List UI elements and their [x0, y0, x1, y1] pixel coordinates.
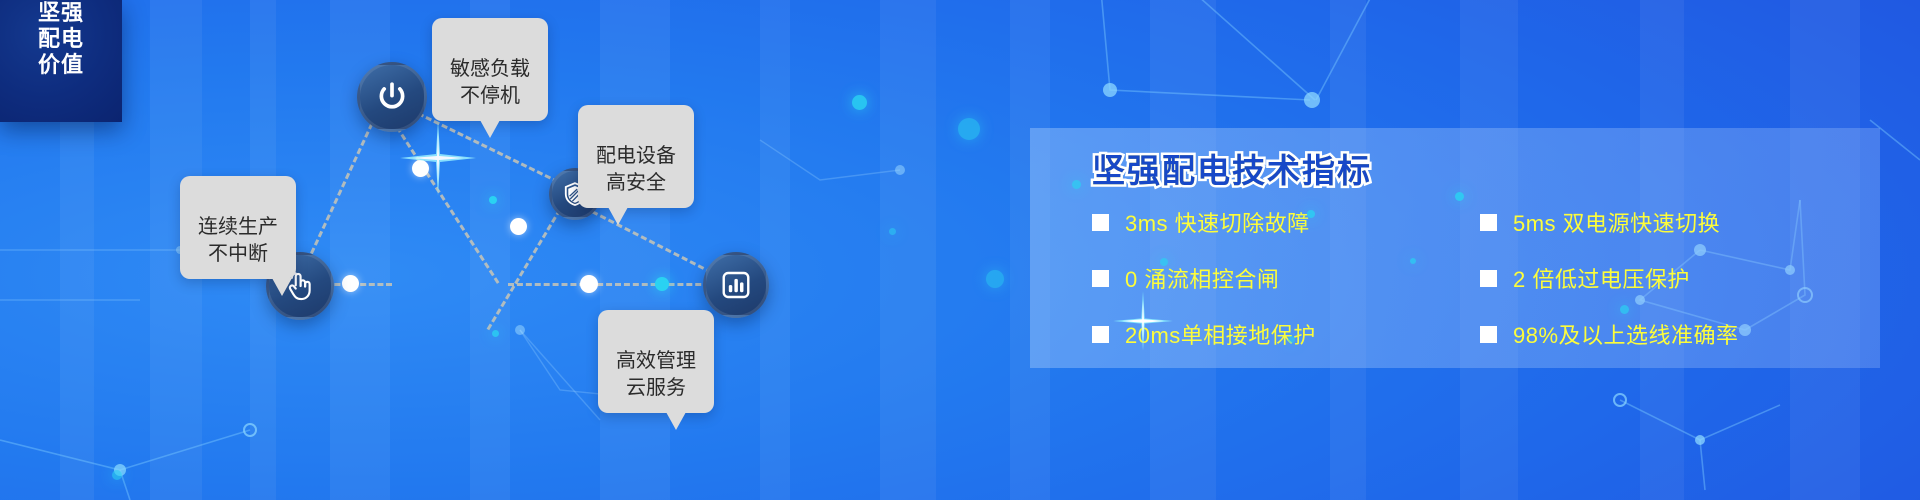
accent-dot-a: [489, 196, 497, 204]
power-icon-node[interactable]: [357, 62, 427, 132]
center-value-label: 坚强 配电 价值: [38, 0, 84, 77]
bar-chart-icon-node[interactable]: [703, 252, 769, 318]
panel-title: 坚强配电技术指标: [1092, 144, 1372, 192]
callout-cloud-management-text: 高效管理 云服务: [616, 350, 696, 398]
bokeh-dot-9: [1620, 305, 1629, 314]
spec-label: 98%及以上选线准确率: [1513, 318, 1739, 350]
spec-label: 3ms 快速切除故障: [1125, 206, 1310, 238]
spec-bullet-icon: [1480, 214, 1497, 231]
spec-label: 5ms 双电源快速切换: [1513, 206, 1720, 238]
bokeh-dot-3: [986, 270, 1004, 288]
spec-5ms-dual-source: 5ms 双电源快速切换: [1480, 206, 1852, 238]
callout-distribution-safety-text: 配电设备 高安全: [596, 145, 676, 193]
spec-2x-undervoltage: 2 倍低过电压保护: [1480, 262, 1852, 294]
sparkle-star: [398, 118, 478, 198]
bokeh-dot-10: [889, 228, 896, 235]
spec-bullet-icon: [1092, 270, 1109, 287]
bar-chart-icon: [720, 269, 752, 301]
callout-continuous-production[interactable]: 连续生产 不中断: [180, 176, 296, 279]
bokeh-dot-12: [1288, 336, 1295, 343]
callout-continuous-production-text: 连续生产 不中断: [198, 216, 278, 264]
bokeh-dot-8: [1455, 192, 1464, 201]
accent-dot-b: [492, 330, 499, 337]
link-dot-2: [510, 218, 527, 235]
spec-20ms-ground-protect: 20ms单相接地保护: [1092, 318, 1464, 350]
spec-label: 2 倍低过电压保护: [1513, 262, 1690, 294]
link-center-to-chart: [508, 283, 728, 286]
bokeh-dot-1: [852, 95, 867, 110]
bokeh-dot-5: [1307, 210, 1315, 218]
bokeh-dot-4: [1072, 180, 1081, 189]
callout-cloud-management[interactable]: 高效管理 云服务: [598, 310, 714, 413]
bokeh-dot-7: [1410, 258, 1416, 264]
spec-0-inrush-closing: 0 涌流相控合闸: [1092, 262, 1464, 294]
bokeh-dot-11: [112, 470, 122, 480]
spec-98-line-selection: 98%及以上选线准确率: [1480, 318, 1852, 350]
bokeh-dot-2: [958, 118, 980, 140]
bokeh-dot-6: [1160, 258, 1168, 266]
callout-sensitive-load[interactable]: 敏感负载 不停机: [432, 18, 548, 121]
link-dot-cyan: [655, 277, 669, 291]
spec-bullet-icon: [1092, 326, 1109, 343]
callout-sensitive-load-text: 敏感负载 不停机: [450, 58, 530, 106]
spec-3ms-fault-clearing: 3ms 快速切除故障: [1092, 206, 1464, 238]
spec-label: 20ms单相接地保护: [1125, 318, 1316, 350]
link-dot-4: [580, 275, 598, 293]
power-icon: [375, 80, 409, 114]
link-dot-3: [342, 275, 359, 292]
spec-bullet-icon: [1480, 326, 1497, 343]
callout-distribution-safety[interactable]: 配电设备 高安全: [578, 105, 694, 208]
center-value-node[interactable]: 坚强 配电 价值: [0, 0, 122, 122]
banner-stage: 坚强 配电 价值 敏感负载 不停机 配电设备 高安全 连续生产 不中断 高效管理…: [0, 0, 1920, 500]
spec-label: 0 涌流相控合闸: [1125, 262, 1279, 294]
spec-list: 3ms 快速切除故障 5ms 双电源快速切换 0 涌流相控合闸 2 倍低过电压保…: [1092, 206, 1852, 350]
value-network-diagram: 坚强 配电 价值 敏感负载 不停机 配电设备 高安全 连续生产 不中断 高效管理…: [0, 0, 860, 500]
link-dot-1: [412, 160, 429, 177]
spec-bullet-icon: [1480, 270, 1497, 287]
tech-specs-panel: 坚强配电技术指标 坚强配电技术指标 3ms 快速切除故障 5ms 双电源快速切换…: [1030, 128, 1880, 368]
spec-bullet-icon: [1092, 214, 1109, 231]
